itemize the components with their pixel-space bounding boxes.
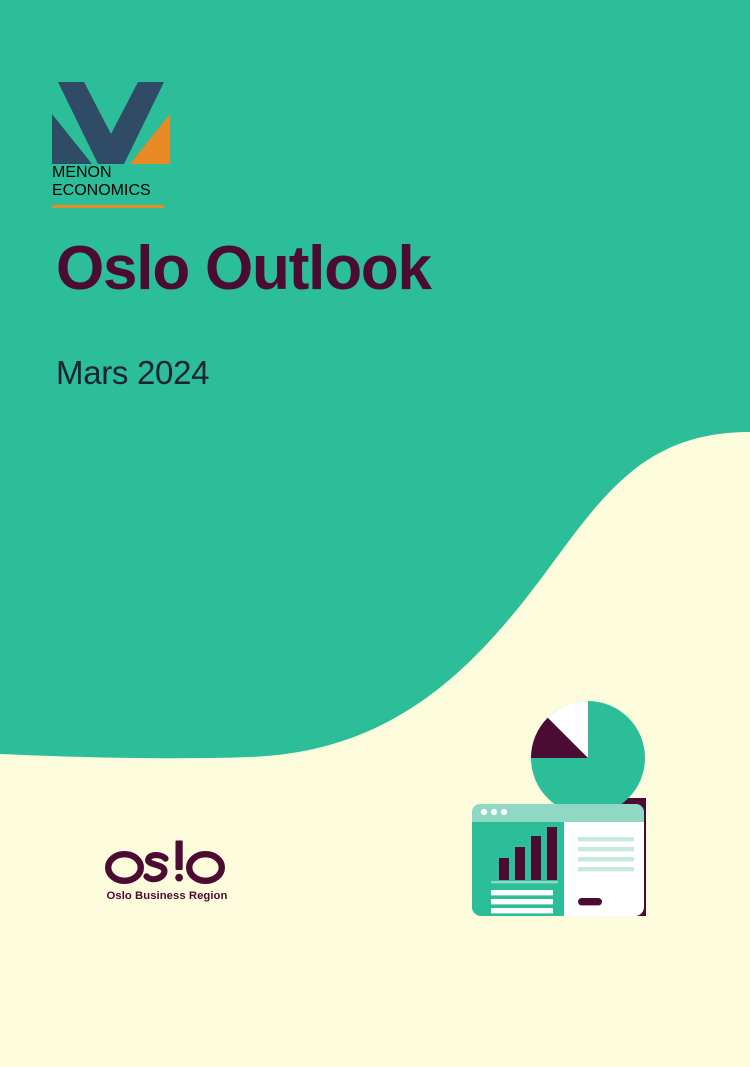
left-panel-text-line-2 bbox=[491, 899, 553, 904]
bar-4 bbox=[547, 827, 557, 880]
left-panel-text-line-3 bbox=[491, 908, 553, 913]
oslo-tagline: Oslo Business Region bbox=[105, 890, 229, 902]
page-title: Oslo Outlook bbox=[56, 237, 431, 300]
oslo-exclamation-bar bbox=[176, 841, 183, 871]
menon-underline-rule bbox=[52, 205, 164, 208]
bar-2 bbox=[515, 847, 525, 880]
window-dot-2-icon bbox=[491, 809, 497, 815]
right-panel-text-line-1 bbox=[578, 837, 634, 841]
right-panel-text-line-2 bbox=[578, 847, 634, 851]
bar-chart-baseline bbox=[491, 881, 558, 883]
oslo-letter-o-last bbox=[189, 854, 222, 881]
pie-chart bbox=[531, 701, 645, 815]
menon-m-mark-icon bbox=[52, 82, 170, 164]
oslo-business-region-logo: Oslo Business Region bbox=[105, 838, 229, 902]
window-dot-3-icon bbox=[501, 809, 507, 815]
card-title-bar-fill bbox=[472, 812, 644, 822]
oslo-exclamation-dot bbox=[175, 874, 183, 882]
cover-page: MENON ECONOMICS Oslo Outlook Mars 2024 O… bbox=[0, 0, 750, 1067]
oslo-wordmark-icon bbox=[105, 838, 225, 884]
bar-3 bbox=[531, 836, 541, 880]
menon-economics-logo: MENON ECONOMICS bbox=[52, 82, 178, 192]
right-panel-button bbox=[578, 898, 602, 905]
oslo-letter-s bbox=[147, 855, 166, 879]
oslo-letter-o-first bbox=[108, 854, 141, 881]
left-panel-text-line-1 bbox=[491, 890, 553, 895]
browser-window-card bbox=[472, 804, 644, 916]
bar-1 bbox=[499, 858, 509, 880]
menon-wordmark: MENON ECONOMICS bbox=[52, 164, 178, 200]
data-report-illustration bbox=[468, 694, 700, 926]
right-panel-text-line-3 bbox=[578, 857, 634, 861]
right-panel-text-line-4 bbox=[578, 867, 634, 871]
window-dot-1-icon bbox=[481, 809, 487, 815]
page-subtitle: Mars 2024 bbox=[56, 354, 209, 392]
